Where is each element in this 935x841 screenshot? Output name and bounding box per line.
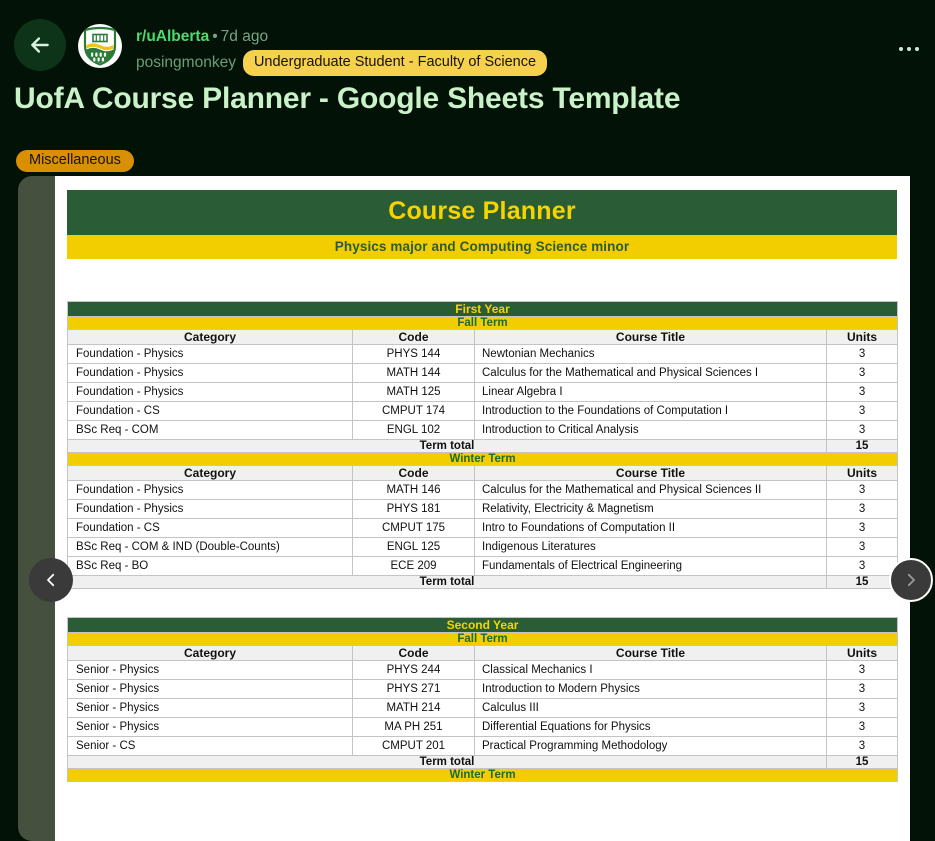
carousel-next-button[interactable] [889, 558, 933, 602]
post-timestamp: 7d ago [221, 28, 268, 45]
post-header: r/uAlberta•7d ago posingmonkey Undergrad… [0, 0, 935, 180]
table-cell: Practical Programming Methodology [475, 737, 827, 756]
column-header: Code [353, 646, 475, 661]
table-cell: BSc Req - COM & IND (Double-Counts) [68, 538, 353, 557]
carousel-prev-button[interactable] [29, 558, 73, 602]
column-header: Course Title [475, 330, 827, 345]
media-carousel: Course Planner Physics major and Computi… [0, 176, 935, 841]
table-cell: CMPUT 175 [353, 519, 475, 538]
carousel-slide-image[interactable]: Course Planner Physics major and Computi… [55, 176, 910, 841]
column-header: Units [827, 330, 898, 345]
table-cell: Classical Mechanics I [475, 661, 827, 680]
table-cell: Calculus for the Mathematical and Physic… [475, 481, 827, 500]
term-label: Fall Term [68, 317, 898, 330]
table-cell: PHYS 144 [353, 345, 475, 364]
term-label: Fall Term [68, 633, 898, 646]
column-header-row: CategoryCodeCourse TitleUnits [68, 646, 898, 661]
course-planner-spreadsheet: Course Planner Physics major and Computi… [67, 190, 897, 782]
table-row: Senior - PhysicsMATH 214Calculus III3 [68, 699, 898, 718]
table-row: Foundation - PhysicsPHYS 181Relativity, … [68, 500, 898, 519]
term-label: Winter Term [68, 453, 898, 466]
table-cell: Senior - Physics [68, 699, 353, 718]
table-cell: Foundation - CS [68, 519, 353, 538]
table-cell: ENGL 102 [353, 421, 475, 440]
term-total-value: 15 [827, 756, 898, 769]
year-header-row: Second Year [68, 618, 898, 633]
table-row: Foundation - PhysicsMATH 144Calculus for… [68, 364, 898, 383]
term-header-row: Winter Term [68, 453, 898, 466]
table-cell: Newtonian Mechanics [475, 345, 827, 364]
year-table: Second YearFall TermCategoryCodeCourse T… [67, 617, 898, 782]
page-title: UofA Course Planner - Google Sheets Temp… [14, 82, 680, 116]
overflow-menu-icon [915, 47, 919, 51]
user-flair-badge[interactable]: Undergraduate Student - Faculty of Scien… [243, 50, 547, 76]
table-cell: Senior - Physics [68, 661, 353, 680]
table-cell: Introduction to the Foundations of Compu… [475, 402, 827, 421]
column-header: Code [353, 466, 475, 481]
table-cell: Introduction to Critical Analysis [475, 421, 827, 440]
table-cell: MA PH 251 [353, 718, 475, 737]
table-cell: Foundation - CS [68, 402, 353, 421]
table-cell: Calculus III [475, 699, 827, 718]
table-row: Foundation - PhysicsPHYS 144Newtonian Me… [68, 345, 898, 364]
back-button[interactable] [14, 19, 66, 71]
column-header-row: CategoryCodeCourse TitleUnits [68, 466, 898, 481]
term-total-row: Term total15 [68, 440, 898, 453]
chevron-left-icon [42, 571, 60, 589]
subreddit-link[interactable]: r/uAlberta [136, 28, 209, 45]
term-total-label: Term total [68, 576, 827, 589]
table-cell: 3 [827, 737, 898, 756]
table-cell: 3 [827, 538, 898, 557]
table-cell: 3 [827, 421, 898, 440]
table-row: Senior - CSCMPUT 201Practical Programmin… [68, 737, 898, 756]
term-total-label: Term total [68, 440, 827, 453]
chevron-right-icon [902, 571, 920, 589]
table-cell: PHYS 271 [353, 680, 475, 699]
post-author-line: posingmonkey Undergraduate Student - Fac… [136, 50, 547, 76]
sheet-spacer [67, 589, 897, 617]
term-total-row: Term total15 [68, 576, 898, 589]
table-row: BSc Req - BOECE 209Fundamentals of Elect… [68, 557, 898, 576]
column-header: Category [68, 646, 353, 661]
table-cell: MATH 214 [353, 699, 475, 718]
table-cell: Foundation - Physics [68, 500, 353, 519]
table-cell: MATH 125 [353, 383, 475, 402]
table-cell: Foundation - Physics [68, 364, 353, 383]
table-row: Senior - PhysicsPHYS 244Classical Mechan… [68, 661, 898, 680]
table-cell: 3 [827, 481, 898, 500]
column-header: Code [353, 330, 475, 345]
table-row: BSc Req - COMENGL 102Introduction to Cri… [68, 421, 898, 440]
overflow-menu-icon [907, 47, 911, 51]
table-cell: CMPUT 201 [353, 737, 475, 756]
table-cell: 3 [827, 383, 898, 402]
table-cell: PHYS 181 [353, 500, 475, 519]
column-header: Category [68, 330, 353, 345]
table-cell: 3 [827, 402, 898, 421]
column-header: Units [827, 466, 898, 481]
author-link[interactable]: posingmonkey [136, 52, 236, 74]
table-cell: MATH 144 [353, 364, 475, 383]
meta-separator: • [209, 28, 220, 45]
table-cell: Calculus for the Mathematical and Physic… [475, 364, 827, 383]
sheet-subtitle: Physics major and Computing Science mino… [67, 234, 897, 259]
table-cell: Foundation - Physics [68, 345, 353, 364]
sheet-spacer [67, 259, 897, 301]
column-header: Category [68, 466, 353, 481]
table-cell: Foundation - Physics [68, 481, 353, 500]
table-cell: CMPUT 174 [353, 402, 475, 421]
table-cell: BSc Req - BO [68, 557, 353, 576]
term-header-row: Fall Term [68, 633, 898, 646]
table-cell: 3 [827, 500, 898, 519]
table-cell: 3 [827, 519, 898, 538]
table-cell: Intro to Foundations of Computation II [475, 519, 827, 538]
term-header-row: Winter Term [68, 769, 898, 782]
table-cell: BSc Req - COM [68, 421, 353, 440]
term-label: Winter Term [68, 769, 898, 782]
table-cell: Senior - Physics [68, 718, 353, 737]
column-header: Course Title [475, 646, 827, 661]
column-header: Units [827, 646, 898, 661]
subreddit-avatar[interactable] [78, 24, 122, 68]
back-arrow-icon [27, 32, 53, 58]
table-cell: Introduction to Modern Physics [475, 680, 827, 699]
table-cell: 3 [827, 661, 898, 680]
post-flair-badge[interactable]: Miscellaneous [16, 150, 134, 172]
overflow-menu-button[interactable] [899, 36, 933, 62]
ualberta-crest-icon [80, 26, 120, 66]
table-row: Senior - PhysicsPHYS 271Introduction to … [68, 680, 898, 699]
table-cell: MATH 146 [353, 481, 475, 500]
years-container: First YearFall TermCategoryCodeCourse Ti… [67, 301, 897, 782]
table-row: Senior - PhysicsMA PH 251Differential Eq… [68, 718, 898, 737]
table-cell: ECE 209 [353, 557, 475, 576]
table-row: Foundation - CSCMPUT 175Intro to Foundat… [68, 519, 898, 538]
term-total-row: Term total15 [68, 756, 898, 769]
table-cell: 3 [827, 345, 898, 364]
table-cell: 3 [827, 699, 898, 718]
table-row: BSc Req - COM & IND (Double-Counts)ENGL … [68, 538, 898, 557]
table-row: Foundation - CSCMPUT 174Introduction to … [68, 402, 898, 421]
term-total-label: Term total [68, 756, 827, 769]
table-row: Foundation - PhysicsMATH 146Calculus for… [68, 481, 898, 500]
table-cell: ENGL 125 [353, 538, 475, 557]
year-table: First YearFall TermCategoryCodeCourse Ti… [67, 301, 898, 589]
term-total-value: 15 [827, 576, 898, 589]
column-header: Course Title [475, 466, 827, 481]
table-cell: Fundamentals of Electrical Engineering [475, 557, 827, 576]
year-label: First Year [68, 302, 898, 317]
year-header-row: First Year [68, 302, 898, 317]
table-cell: Linear Algebra I [475, 383, 827, 402]
table-cell: Relativity, Electricity & Magnetism [475, 500, 827, 519]
table-cell: Indigenous Literatures [475, 538, 827, 557]
table-cell: Senior - CS [68, 737, 353, 756]
overflow-menu-icon [899, 47, 903, 51]
table-cell: 3 [827, 680, 898, 699]
table-row: Foundation - PhysicsMATH 125Linear Algeb… [68, 383, 898, 402]
term-header-row: Fall Term [68, 317, 898, 330]
sheet-title: Course Planner [67, 190, 897, 234]
table-cell: Senior - Physics [68, 680, 353, 699]
table-cell: 3 [827, 718, 898, 737]
year-label: Second Year [68, 618, 898, 633]
table-cell: 3 [827, 364, 898, 383]
table-cell: Differential Equations for Physics [475, 718, 827, 737]
post-meta-line: r/uAlberta•7d ago [136, 27, 268, 47]
table-cell: PHYS 244 [353, 661, 475, 680]
term-total-value: 15 [827, 440, 898, 453]
post-detail-screen: r/uAlberta•7d ago posingmonkey Undergrad… [0, 0, 935, 841]
table-cell: Foundation - Physics [68, 383, 353, 402]
table-cell: 3 [827, 557, 898, 576]
column-header-row: CategoryCodeCourse TitleUnits [68, 330, 898, 345]
